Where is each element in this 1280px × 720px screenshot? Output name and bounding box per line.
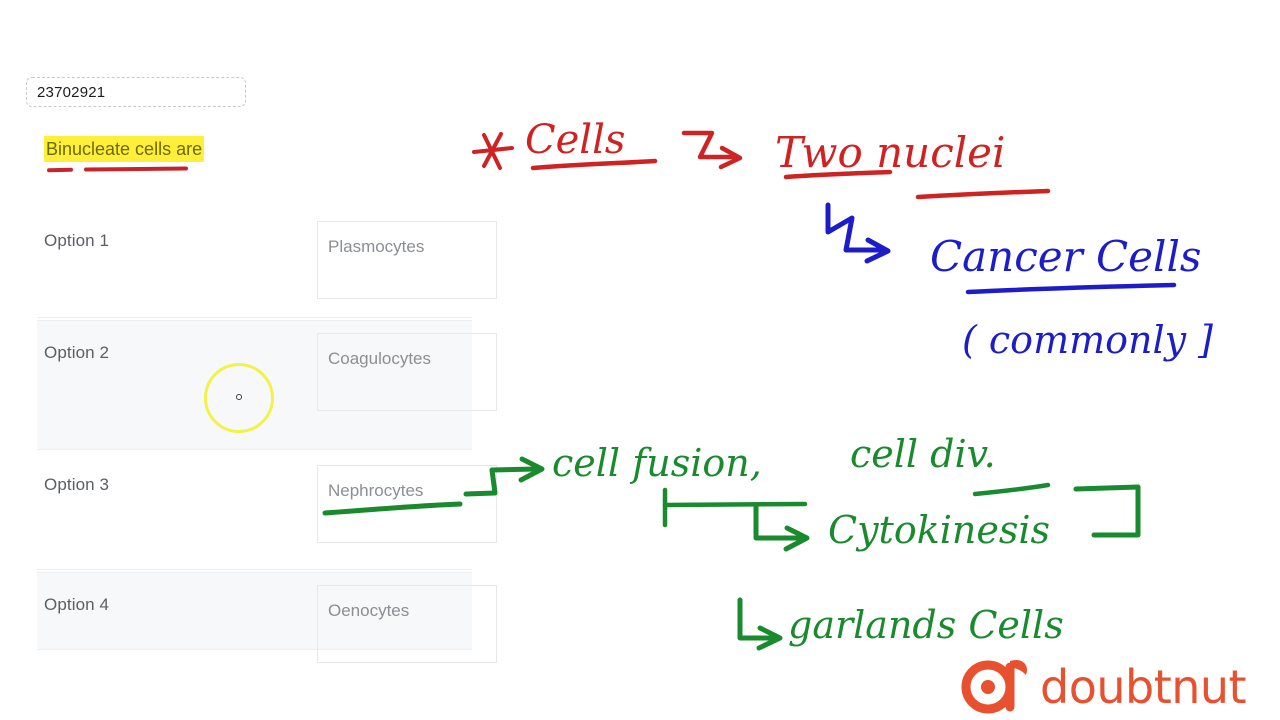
option-label: Option 2 [44, 343, 109, 363]
question-id-value: 23702921 [37, 84, 105, 101]
question-text: Binucleate cells are [44, 136, 204, 162]
blue-elbow-arrow [828, 205, 888, 261]
question-underline-stroke-2 [84, 166, 188, 171]
option-value-box: Plasmocytes [317, 221, 497, 299]
option-value: Coagulocytes [328, 349, 431, 369]
cells-label: Cells [525, 117, 625, 163]
option-label: Option 4 [44, 595, 109, 615]
cell-fusion-bracket [665, 490, 805, 525]
logo-wordmark: doubtnut [1040, 660, 1246, 714]
option-value-box: Oenocytes [317, 585, 497, 663]
question-content-panel: 23702921 Binucleate cells are Option 1 P… [0, 0, 472, 650]
question-id-field[interactable]: 23702921 [26, 77, 246, 107]
green-elbow-arrow-3 [740, 600, 780, 648]
option-value: Nephrocytes [328, 481, 423, 501]
cell-div-label: cell div. [850, 432, 996, 476]
cell-fusion-label: cell fusion, [552, 441, 762, 485]
nuclei-underline [918, 191, 1048, 197]
cytokinesis-bracket [1076, 487, 1138, 535]
option-label: Option 3 [44, 475, 109, 495]
question-underline-stroke-1 [47, 168, 73, 173]
cancer-cells-underline [968, 285, 1174, 292]
cell-div-underline [975, 485, 1048, 494]
option-row[interactable]: Option 3 Nephrocytes [37, 452, 472, 570]
option-label: Option 1 [44, 231, 109, 251]
option-value: Plasmocytes [328, 237, 424, 257]
cancer-cells-label: Cancer Cells [930, 232, 1201, 281]
option-value-box: Coagulocytes [317, 333, 497, 411]
option-row[interactable]: Option 4 Oenocytes [37, 572, 472, 650]
red-elbow-arrow [684, 133, 740, 167]
option-value: Oenocytes [328, 601, 409, 621]
logo-dot [981, 680, 995, 694]
option-value-box: Nephrocytes [317, 465, 497, 543]
question-statement: Binucleate cells are [44, 136, 204, 166]
star-marker-icon [474, 134, 512, 168]
commonly-note: ( commonly ] [962, 318, 1213, 362]
two-nuclei-label: Two nuclei [775, 128, 1005, 177]
green-elbow-arrow-2 [756, 506, 807, 549]
doubtnut-logo: doubtnut [958, 655, 1268, 715]
cytokinesis-label: Cytokinesis [828, 508, 1050, 552]
mouse-cursor-dot [236, 394, 242, 400]
option-row[interactable]: Option 1 Plasmocytes [37, 208, 472, 318]
garlands-cells-label: garlands Cells [788, 603, 1064, 647]
